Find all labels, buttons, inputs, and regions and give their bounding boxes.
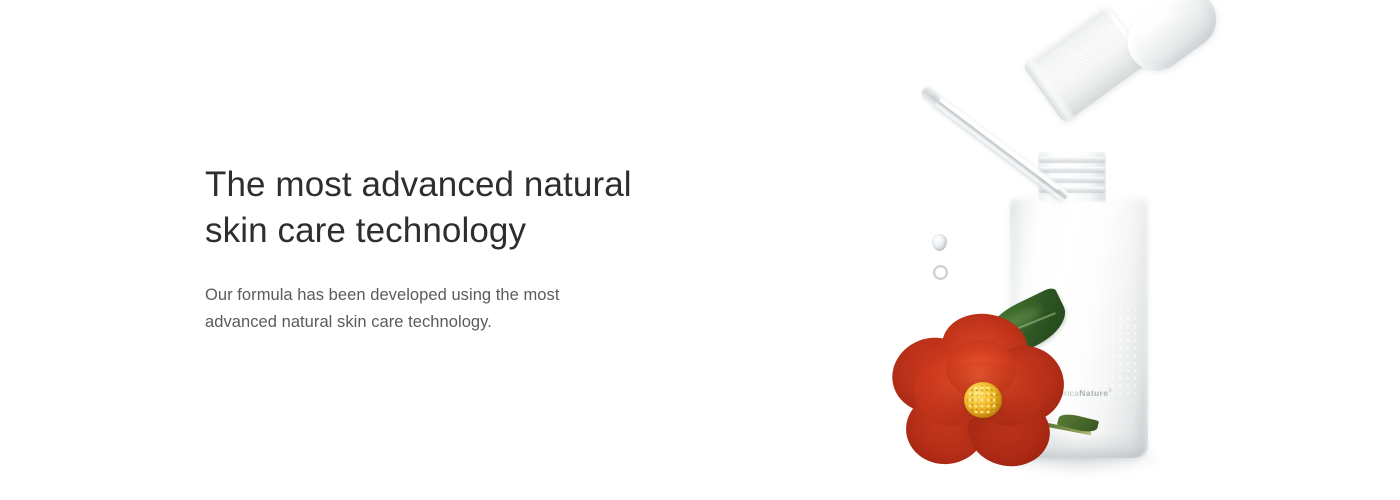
bulb-highlight: [1134, 5, 1181, 45]
page-title: The most advanced natural skin care tech…: [205, 162, 675, 254]
brand-name-suffix: Nature: [1079, 388, 1108, 398]
trademark-symbol: ®: [1108, 388, 1112, 394]
product-image: AmericaNature®: [860, 0, 1260, 500]
neck-thread: [1039, 157, 1105, 162]
pipette-highlight: [939, 98, 1059, 189]
serum-droplet-bead: [932, 234, 947, 251]
hero-copy-block: The most advanced natural skin care tech…: [205, 162, 675, 335]
flower-stamen: [964, 382, 1002, 418]
cap-ribbed-texture: [1028, 10, 1143, 118]
dropper-cap: [1022, 4, 1148, 123]
stamen-texture: [967, 385, 999, 415]
pipette-tube: [928, 91, 1071, 203]
camellia-flower: [890, 300, 1070, 475]
hero-banner: The most advanced natural skin care tech…: [0, 0, 1400, 500]
neck-thread: [1039, 167, 1105, 172]
serum-droplet-falling: [933, 265, 948, 280]
hero-description: Our formula has been developed using the…: [205, 254, 675, 335]
